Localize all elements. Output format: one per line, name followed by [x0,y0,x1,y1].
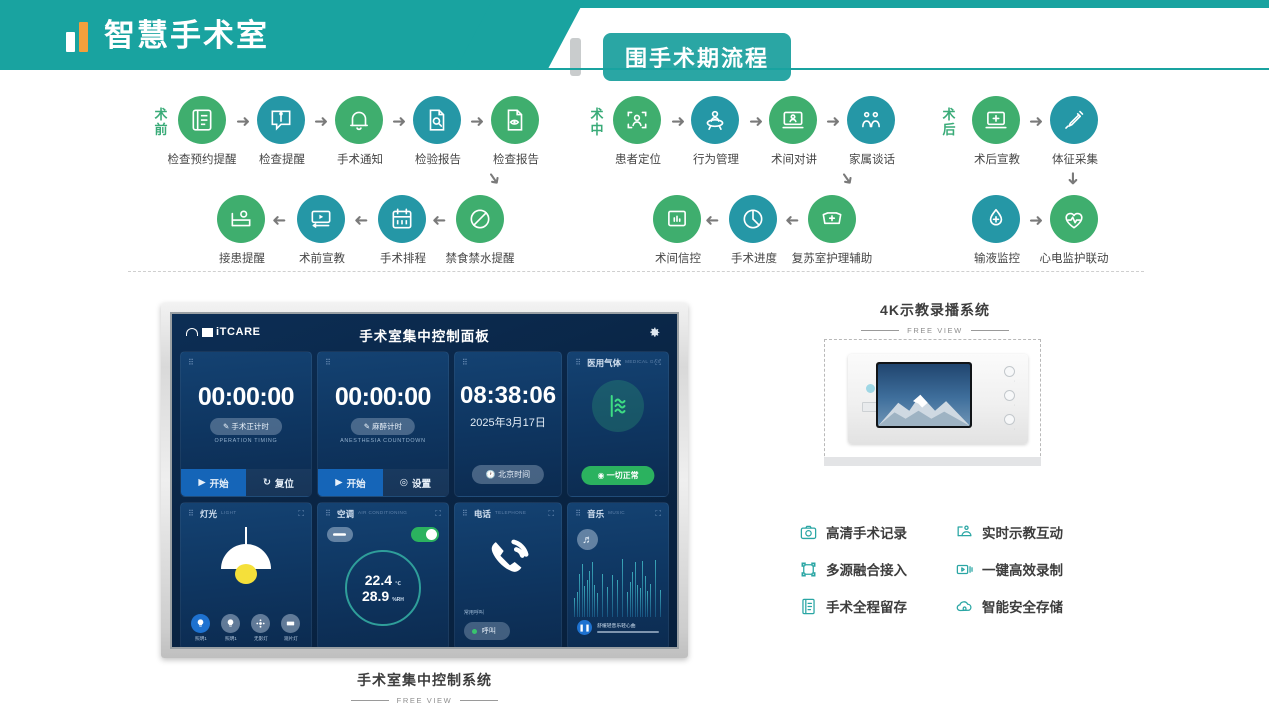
flow-node-pre-1[interactable]: 检查预约提醒 [178,96,226,168]
monitor-chart-icon [653,195,701,243]
flow-node-label: 检查提醒 [259,151,305,167]
flow-node-mid-5[interactable]: 术间信控 [653,195,701,267]
laptop-plus-icon [972,96,1020,144]
flow-node-post-4[interactable]: 心电监护联动 [1050,195,1098,267]
telephone-call-button[interactable]: 呼叫 [464,622,510,640]
device-screen [876,362,972,428]
flow-node-mid-1[interactable]: 患者定位 [613,96,661,168]
anesthesia-timer-value: 00:00:00 [318,383,448,412]
feature-item-3[interactable]: 多源融合接入 [799,559,943,579]
music-equalizer [574,555,662,617]
operation-start-button[interactable]: ▶ 开始 [181,469,246,496]
section-heading: 围手术期流程 [570,33,791,81]
music-track-title: 舒缓轻音乐轻心曲 [597,622,659,629]
flow-node-label: 输液监控 [974,250,1020,266]
patient-bed-icon [217,195,265,243]
header-underline [0,68,1269,70]
expand-icon[interactable]: ⛶ [435,509,441,519]
poster-root: 智慧手术室 围手术期流程 术前 术中 术后 检查预约提醒 [0,0,1269,713]
ac-mode-button[interactable] [327,527,353,542]
anesthesia-timer-en: ANESTHESIA COUNTDOWN [318,438,448,444]
ac-humidity: 28.9 %RH [362,588,404,604]
expand-icon[interactable]: ⛶ [298,509,304,519]
flow-arrow-right: ➜ [749,113,763,130]
video-record-icon [955,560,974,579]
monitor-caption-sub-text: FREE VIEW [397,696,453,705]
bulb-icon [221,614,240,633]
status-dot-icon [472,629,477,634]
flow-arrow-right: ➜ [1029,113,1043,130]
telephone-en: TELEPHONE [495,510,526,515]
flow-node-label: 家属谈话 [849,151,895,167]
flow-node-pre-9[interactable]: 禁食禁水提醒 [456,195,504,267]
flow-arrow-down: ➜ [1065,171,1082,185]
anesthesia-timer-chip: ✎ 麻醉计时 [351,418,415,435]
feature-label: 高清手术记录 [826,522,907,542]
person-locate-icon [613,96,661,144]
nurse-cap-icon [808,195,856,243]
flow-node-pre-3[interactable]: 手术通知 [335,96,383,168]
drag-handle-icon: ⠿ [462,509,469,518]
recording-system-heading: 4K示教录播系统 FREE VIEW [790,300,1080,335]
music-note-icon: ♬ [577,529,598,550]
flow-node-pre-5[interactable]: 检查报告 [491,96,539,168]
light-button-label: 照明1 [191,636,210,642]
feature-label: 一键高效录制 [982,559,1063,579]
flow-node-mid-4[interactable]: 家属谈话 [847,96,895,168]
flow-node-label: 禁食禁水提醒 [446,250,515,266]
control-panel-screen: iTCARE 手术室集中控制面板 ⠿ 00:00:00 [172,314,677,647]
device-screen-image [878,364,970,426]
flow-node-mid-6[interactable]: 手术进度 [729,195,777,267]
recording-system-sub-text: FREE VIEW [907,326,963,335]
light-button-3[interactable]: 无影灯 [251,614,270,642]
panel-row-bottom: ⠿ 灯光 LIGHT ⛶ [180,502,669,649]
clock-date: 2025年3月17日 [455,414,561,430]
refresh-icon: ↻ [263,477,271,488]
flow-node-pre-2[interactable]: 检查提醒 [257,96,305,168]
panel-topbar: iTCARE 手术室集中控制面板 [180,321,669,351]
operation-timer-en: OPERATION TIMING [181,438,311,444]
operation-timer-buttons: ▶ 开始 ↻ 复位 [181,469,311,496]
video-play-icon [297,195,345,243]
music-progress-track[interactable] [597,631,659,633]
flow-node-label: 接患提醒 [219,250,265,266]
flow-node-pre-4[interactable]: 检验报告 [413,96,461,168]
flow-node-mid-2[interactable]: 行为管理 [691,96,739,168]
light-button-2[interactable]: 照明1 [221,614,240,642]
operation-timer-value: 00:00:00 [181,383,311,412]
flow-node-label: 手术进度 [731,250,777,266]
flow-node-label: 术后宣教 [974,151,1020,167]
flow-arrow-right: ➜ [392,113,406,130]
ac-name: 空调 [337,508,354,520]
lamp-icon [213,527,279,594]
teaching-interaction-icon [955,523,974,542]
flow-node-label: 手术通知 [337,151,383,167]
device-knob-1[interactable] [1004,366,1015,377]
flow-node-pre-6[interactable]: 接患提醒 [217,195,265,267]
feature-item-4[interactable]: 一键高效录制 [955,559,1099,579]
ac-power-toggle[interactable] [411,527,439,542]
ac-en: AIR CONDITIONING [358,510,407,515]
operation-timer-chip: ✎ 手术正计时 [210,418,282,435]
section-accent-bar [570,38,581,76]
drag-handle-icon: ⠿ [188,358,195,367]
surgical-light-icon [251,614,270,633]
card-medical-gas[interactable]: ⠿ 医用气体 MEDICAL GAS ⛶ [567,351,669,497]
ac-temperature: 22.4 ℃ [365,572,401,588]
card-music[interactable]: ⠿ 音乐 MUSIC ⛶ ♬ ❚❚ 舒缓轻音乐轻心曲 [567,502,669,649]
anesthesia-timer-buttons: ▶ 开始 ◎ 设置 [318,469,448,496]
expand-icon[interactable]: ⛶ [655,358,661,368]
flow-arrow-right: ➜ [671,113,685,130]
light-button-1[interactable]: 照明1 [191,614,210,642]
report-search-icon [413,96,461,144]
card-anesthesia-timer[interactable]: ⠿ 00:00:00 ✎ 麻醉计时 ANESTHESIA COUNTDOWN ▶… [317,351,449,497]
flow-node-label: 检查报告 [493,151,539,167]
medical-gas-name: 医用气体 [587,357,621,369]
feature-label: 智能安全存储 [982,596,1063,616]
flow-arrow-left: ➜ [705,212,719,229]
expand-icon[interactable]: ⛶ [655,509,661,519]
lighting-name: 灯光 [200,508,217,520]
recording-system-title: 4K示教录播系统 [790,300,1080,320]
light-button-label: 照明1 [221,636,240,642]
feature-list: 高清手术记录 实时示教互动 多源融合接入 [799,522,1099,616]
feature-item-6[interactable]: 智能安全存储 [955,596,1099,616]
light-button-4[interactable]: 观片灯 [281,614,300,642]
card-telephone[interactable]: ⠿ 电话 TELEPHONE ⛶ 常用呼叫 [454,502,562,649]
play-icon: ▶ [198,477,205,488]
telephone-name: 电话 [474,508,491,520]
flow-node-pre-7[interactable]: 术前宣教 [297,195,345,267]
music-name: 音乐 [587,508,604,520]
lighting-buttons: 照明1 照明1 [181,614,311,642]
gas-wave-icon [592,380,644,432]
flow-arrow-down: ➜ [836,168,858,189]
section-divider [128,271,1144,272]
pie-progress-icon [729,195,777,243]
expand-icon[interactable]: ⛶ [549,509,555,519]
flow-node-label: 患者定位 [615,151,661,167]
device-knob-label-2: ▫ [1014,403,1015,407]
heart-ecg-icon [1050,195,1098,243]
flow-arrow-right: ➜ [236,113,250,130]
device-body: ▫ ▫ ▫ [848,354,1028,444]
recording-system-sub: FREE VIEW [790,326,1080,335]
info-bubble-icon [257,96,305,144]
monitor-caption-title: 手术室集中控制系统 [161,670,688,690]
flow-node-label: 心电监护联动 [1040,250,1109,266]
flow-node-label: 检查预约提醒 [168,151,237,167]
flow-node-label: 体征采集 [1052,151,1098,167]
control-panel-monitor: iTCARE 手术室集中控制面板 ⠿ 00:00:00 [161,303,688,658]
card-operation-timer[interactable]: ⠿ 00:00:00 ✎ 手术正计时 OPERATION TIMING ▶ 开始 [180,351,312,497]
pause-icon[interactable]: ❚❚ [577,620,592,635]
monitor-caption: 手术室集中控制系统 FREE VIEW [161,670,688,705]
play-icon: ▶ [335,477,342,488]
intercom-screen-icon [769,96,817,144]
stage-label-post: 术后 [938,107,960,137]
flow-node-post-3[interactable]: 输液监控 [972,195,1020,267]
page-title: 智慧手术室 [104,16,269,56]
telephone-sub-label: 常用呼叫 [464,609,484,616]
phone-icon [480,533,536,590]
no-entry-icon [456,195,504,243]
device-shadow [824,457,1041,466]
stage-label-mid: 术中 [586,107,608,137]
operation-reset-button[interactable]: ↻ 复位 [246,469,311,496]
bulb-icon [191,614,210,633]
flow-node-label: 检验报告 [415,151,461,167]
device-knob-label-3: ▫ [1014,427,1015,431]
flow-arrow-left: ➜ [272,212,286,229]
perioperative-flow: 术前 术中 术后 检查预约提醒 ➜ 检查提醒 [0,82,1269,274]
card-air-conditioning[interactable]: ⠿ 空调 AIR CONDITIONING ⛶ 22.4 ℃ [317,502,449,649]
page-header: 智慧手术室 围手术期流程 [0,0,1269,70]
feature-item-5[interactable]: 手术全程留存 [799,596,943,616]
medical-gas-status: ◉ 一切正常 [581,466,654,485]
report-eye-icon [491,96,539,144]
bar-chart-logo-icon [66,22,92,52]
card-clock[interactable]: ⠿ 08:38:06 2025年3月17日 🕐 北京时间 [454,351,562,497]
flow-node-label: 行为管理 [693,151,739,167]
feature-label: 实时示教互动 [982,522,1063,542]
flow-node-mid-7[interactable]: 复苏室护理辅助 [808,195,856,267]
recorder-device-image: ▫ ▫ ▫ [838,352,1028,447]
flow-node-label: 术前宣教 [299,250,345,266]
clock-icon: 🕐 [486,470,498,479]
document-list-icon [178,96,226,144]
flow-arrow-right: ➜ [826,113,840,130]
flow-node-post-2[interactable]: 体征采集 [1050,96,1098,168]
flow-arrow-left: ➜ [785,212,799,229]
camera-icon [799,523,818,542]
device-knob-label-1: ▫ [1014,379,1015,383]
monitor-bezel: iTCARE 手术室集中控制面板 ⠿ 00:00:00 [170,312,679,649]
flow-node-label: 术间对讲 [771,151,817,167]
flow-arrow-right: ➜ [314,113,328,130]
feature-label: 手术全程留存 [826,596,907,616]
flow-arrow-left: ➜ [354,212,368,229]
flow-node-post-1[interactable]: 术后宣教 [972,96,1020,168]
anesthesia-start-button[interactable]: ▶ 开始 [318,469,383,496]
cloud-secure-icon [955,597,974,616]
feature-item-1[interactable]: 高清手术记录 [799,522,943,542]
drag-handle-icon: ⠿ [188,509,195,518]
behavior-track-icon [691,96,739,144]
device-knob-2[interactable] [1004,390,1015,401]
section-pill-label: 围手术期流程 [603,33,791,81]
drag-handle-icon: ⠿ [462,358,469,367]
bell-icon [335,96,383,144]
flow-arrow-right: ➜ [470,113,484,130]
monitor-caption-sub: FREE VIEW [161,696,688,705]
flow-node-label: 复苏室护理辅助 [792,250,873,266]
multi-source-icon [799,560,818,579]
panel-title: 手术室集中控制面板 [180,325,669,345]
stage-label-pre: 术前 [150,107,172,137]
panel-row-top: ⠿ 00:00:00 ✎ 手术正计时 OPERATION TIMING ▶ 开始 [180,351,669,497]
lighting-en: LIGHT [221,510,237,515]
check-circle-icon: ◉ [597,471,606,480]
device-power-button[interactable] [866,384,875,393]
card-lighting[interactable]: ⠿ 灯光 LIGHT ⛶ [180,502,312,649]
ac-readout-ring: 22.4 ℃ 28.9 %RH [345,550,421,626]
clock-time: 08:38:06 [455,382,561,410]
calendar-icon [378,195,426,243]
family-talk-icon [847,96,895,144]
flow-node-mid-3[interactable]: 术间对讲 [769,96,817,168]
archive-file-icon [799,597,818,616]
anesthesia-setting-button[interactable]: ◎ 设置 [383,469,448,496]
syringe-icon [1050,96,1098,144]
light-button-label: 无影灯 [251,636,270,642]
feature-item-2[interactable]: 实时示教互动 [955,522,1099,542]
drag-handle-icon: ⠿ [575,358,582,367]
drag-handle-icon: ⠿ [325,509,332,518]
gear-icon[interactable] [648,326,661,343]
infusion-drop-icon [972,195,1020,243]
drag-handle-icon: ⠿ [325,358,332,367]
clock-timezone-chip: 🕐 北京时间 [472,465,544,484]
feature-label: 多源融合接入 [826,559,907,579]
music-player-bar: ❚❚ 舒缓轻音乐轻心曲 [577,620,659,635]
light-button-label: 观片灯 [281,636,300,642]
drag-handle-icon: ⠿ [575,509,582,518]
device-knob-3[interactable] [1004,414,1015,425]
flow-node-pre-8[interactable]: 手术排程 [378,195,426,267]
flow-arrow-right: ➜ [1029,212,1043,229]
viewbox-light-icon [281,614,300,633]
flow-node-label: 手术排程 [380,250,426,266]
flow-arrow-left: ➜ [432,212,446,229]
music-en: MUSIC [608,510,625,515]
flow-arrow-down: ➜ [483,168,505,189]
flow-node-label: 术间信控 [655,250,701,266]
gear-icon: ◎ [400,477,408,488]
